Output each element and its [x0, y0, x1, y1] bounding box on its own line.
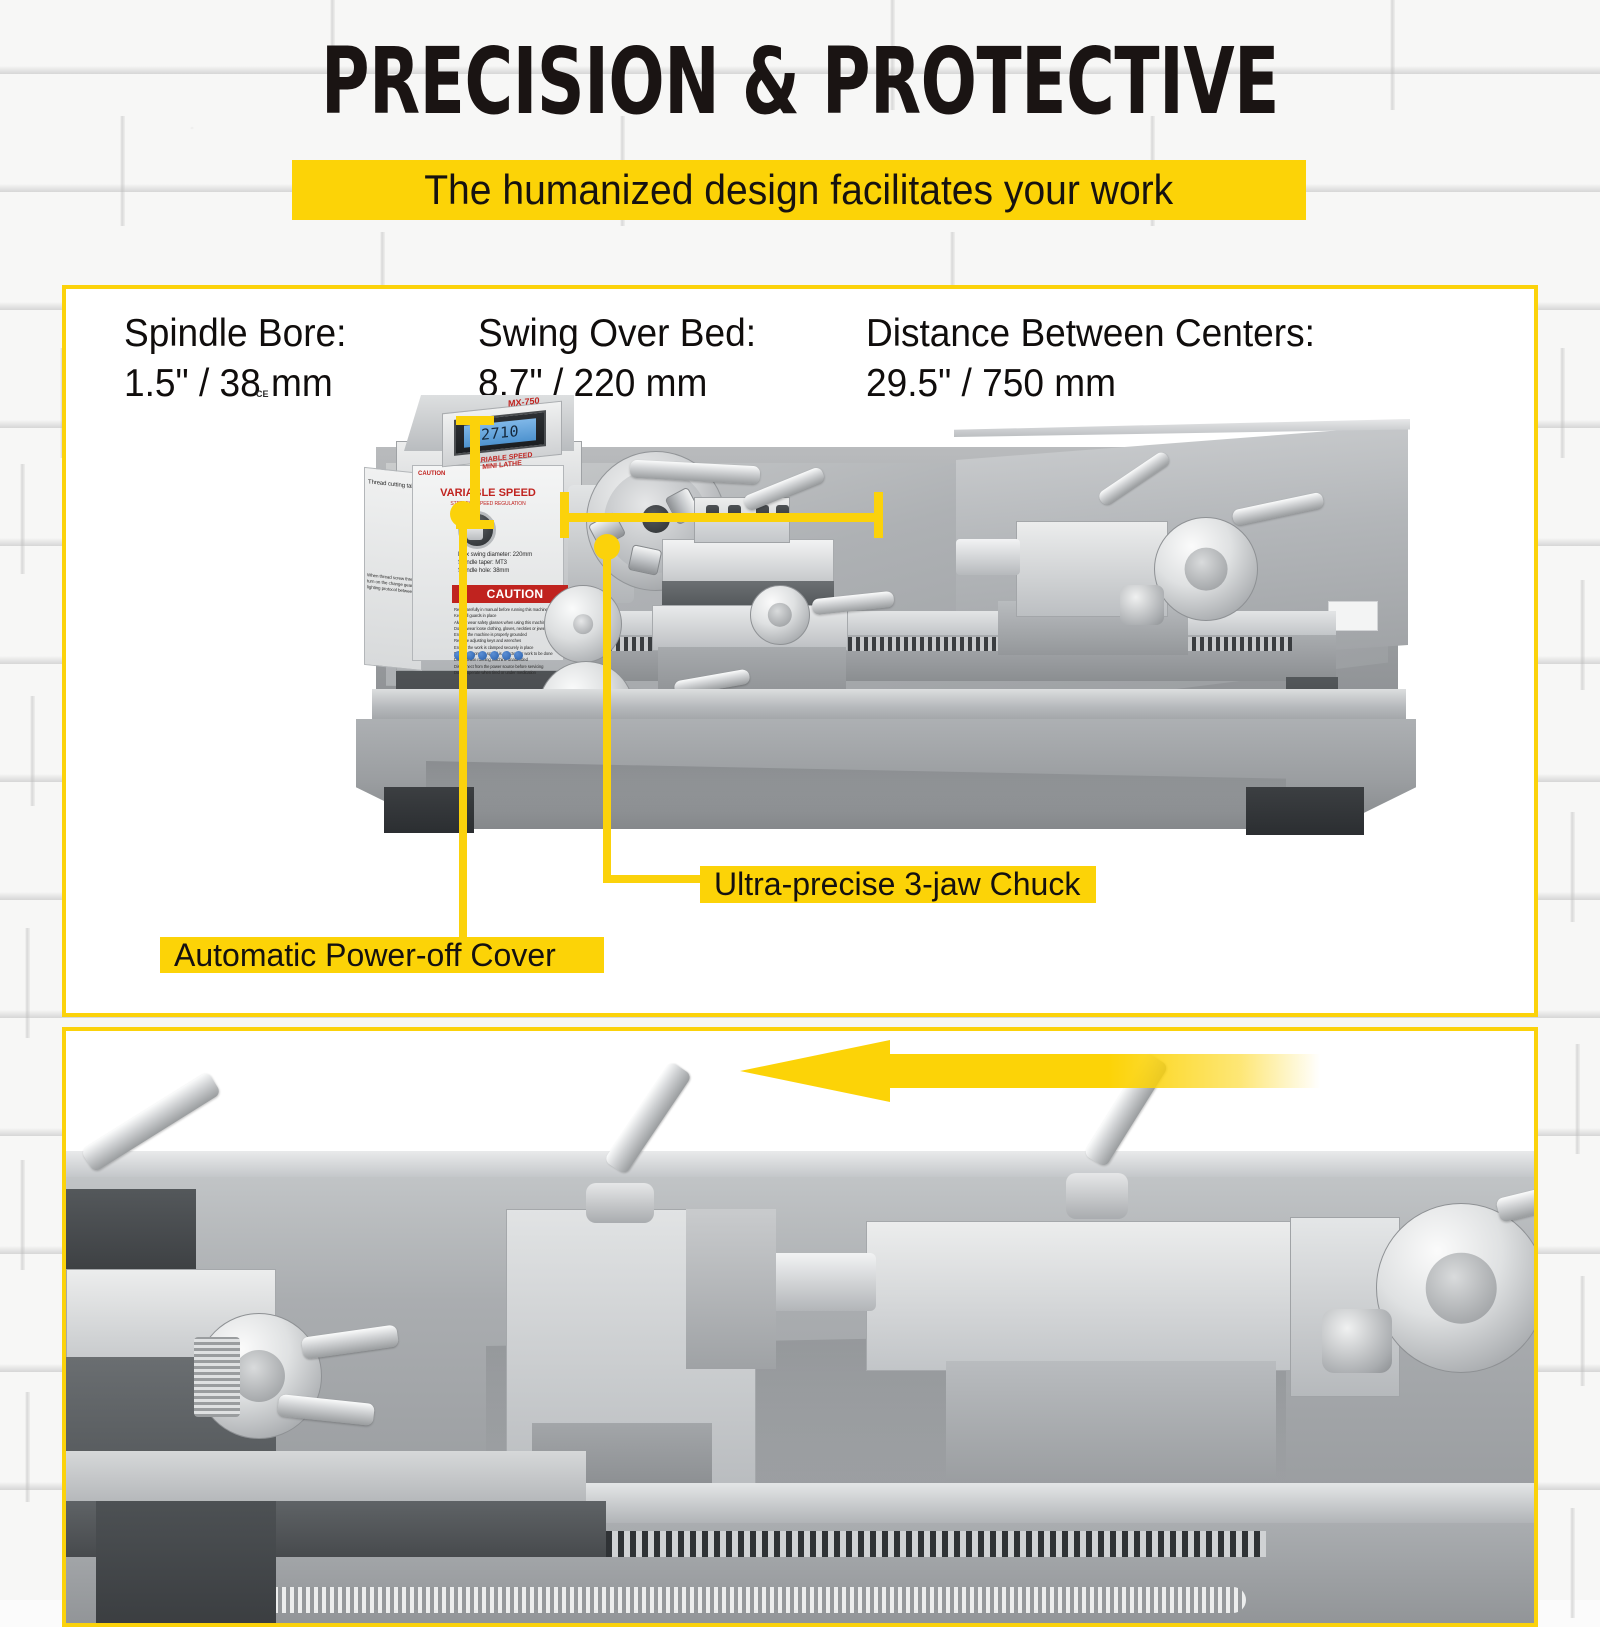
tailstock-clamp-knob[interactable] — [1120, 585, 1164, 625]
direction-arrow — [740, 1040, 1320, 1102]
cross-slide — [662, 539, 834, 583]
closeup-tailstock-base — [946, 1361, 1276, 1481]
cross-slide-shadow — [662, 581, 834, 607]
tailstock-quill — [956, 539, 1020, 575]
closeup-lever-right-base — [1066, 1173, 1128, 1219]
closeup-lever-middle-base — [586, 1183, 654, 1223]
closeup-mid-block-face — [686, 1209, 776, 1369]
callout-leader-power-off-cover — [459, 514, 467, 939]
plate-spec-text: Max swing diameter: 220mm Spindle taper:… — [458, 551, 532, 575]
closeup-tailstock-knob[interactable] — [1322, 1309, 1392, 1373]
spec-spindle-bore-label: Spindle Bore: — [124, 312, 346, 355]
callout-label-power-off-cover-text: Automatic Power-off Cover — [174, 937, 556, 974]
closeup-toolpost-left — [66, 1189, 196, 1275]
spec-swing-over-bed-label: Swing Over Bed: — [478, 312, 756, 355]
closeup-tailstock-body — [866, 1221, 1306, 1371]
safety-icon-2 — [466, 651, 475, 660]
callout-leader-chuck-vertical — [603, 547, 611, 882]
arrow-shaft — [880, 1054, 1320, 1088]
closeup-bed-top — [66, 1151, 1534, 1177]
feature-panel-top: Spindle Bore:1.5" / 38 mm Swing Over Bed… — [62, 285, 1538, 1017]
variable-speed-title: VARIABLE SPEED — [432, 487, 544, 499]
safety-icon-5 — [502, 651, 511, 660]
swing-dimension-cap-top — [456, 416, 494, 425]
tailstock-handwheel[interactable] — [1154, 517, 1258, 621]
centers-dimension-cap-left — [560, 492, 569, 538]
subtitle-text: The humanized design facilitates your wo… — [424, 166, 1173, 214]
callout-label-chuck-text: Ultra-precise 3-jaw Chuck — [714, 866, 1080, 903]
safety-icon-3 — [478, 651, 487, 660]
machine-foot-right — [1246, 787, 1364, 835]
stepless-speed-text: STEPLESS SPEED REGULATION — [432, 501, 544, 508]
feature-panel-bottom — [62, 1027, 1538, 1627]
callout-leader-chuck-horizontal — [603, 875, 711, 883]
closeup-leadscrew — [126, 1587, 1246, 1613]
centers-dimension-line — [564, 513, 879, 522]
centers-dimension-cap-right — [874, 492, 883, 538]
cross-slide-dial[interactable] — [750, 585, 810, 645]
arrow-head-icon — [740, 1040, 890, 1102]
lathe-closeup-photo — [66, 1031, 1534, 1623]
safety-icon-6 — [514, 651, 523, 660]
subtitle-banner: The humanized design facilitates your wo… — [292, 160, 1306, 220]
caution-top-text: CAUTION — [418, 471, 445, 477]
safety-icon-4 — [490, 651, 499, 660]
closeup-tailstock-handwheel[interactable] — [1376, 1203, 1534, 1373]
callout-label-chuck: Ultra-precise 3-jaw Chuck — [700, 866, 1096, 903]
closeup-tailstock-quill — [766, 1253, 876, 1311]
page-title: PRECISION & PROTECTIVE — [160, 34, 1440, 131]
closeup-pillar — [96, 1501, 276, 1623]
closeup-dial-knurl — [194, 1337, 240, 1417]
callout-label-power-off-cover: Automatic Power-off Cover — [160, 937, 604, 973]
lathe-product-photo: Thread cutting table When thread screw t… — [256, 389, 1416, 909]
spec-distance-label: Distance Between Centers: — [866, 312, 1315, 355]
